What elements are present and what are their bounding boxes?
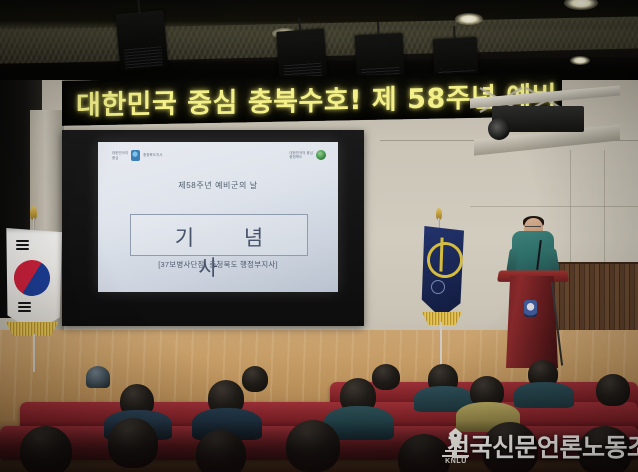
unit-emblem-icon xyxy=(424,239,466,281)
unit-sub-emblem-icon xyxy=(431,280,445,294)
ceiling-downlight-icon xyxy=(570,56,590,65)
ceiling-projector xyxy=(470,86,620,150)
slide-logo-left: 대한민국의 중심 충청북도지사 xyxy=(112,150,162,161)
flag-fringe xyxy=(422,312,462,325)
ceiling xyxy=(0,0,638,76)
trigram-bar xyxy=(16,244,29,246)
presentation-slide: 대한민국의 중심 충청북도지사 대한민국의 중심 충청북도 제58주년 예비군의… xyxy=(98,142,338,292)
trigram-bar xyxy=(18,310,31,312)
audience-head xyxy=(372,364,400,390)
audience-head xyxy=(86,366,110,388)
stage-light-fixture xyxy=(116,10,169,72)
wall-seam xyxy=(470,206,638,207)
projection-screen: 대한민국의 중심 충청북도지사 대한민국의 중심 충청북도 제58주년 예비군의… xyxy=(62,130,364,326)
slide-headline: 기 념 사 xyxy=(131,222,307,282)
speaker-glasses-icon xyxy=(525,226,541,230)
stage-light-lens xyxy=(123,45,163,68)
projector-body xyxy=(492,106,584,132)
trigram-bar xyxy=(18,306,31,308)
watermark-text: 전국신문언론노동조합 xyxy=(447,428,638,464)
slide-logo-right-text: 대한민국의 중심 충청북도 xyxy=(289,151,313,160)
slide-logo-left-text: 대한민국의 중심 xyxy=(112,151,128,160)
watermark-abbreviation: KNLU xyxy=(440,458,472,465)
podium-emblem-icon xyxy=(524,300,537,317)
projector-lens-icon xyxy=(488,118,510,140)
ceiling-downlight-icon xyxy=(455,13,483,25)
slide-subtitle: [37보병사단장, 충청북도 행정부지사] xyxy=(98,259,338,270)
blue-emblem-icon xyxy=(131,150,140,161)
green-circle-emblem-icon xyxy=(316,150,326,160)
event-photo: 대한민국 중심 충북수호! 제 58주년 예비 대한민국의 중심 충청북도지사 xyxy=(0,0,638,472)
slide-logo-left-name: 충청북도지사 xyxy=(143,153,162,157)
audience-shoulders xyxy=(514,382,574,408)
trigram-bar xyxy=(18,302,31,304)
trigram-bar xyxy=(16,240,29,242)
wall-seam xyxy=(604,150,605,270)
audience-head xyxy=(596,374,630,406)
watermark: KNLU 전국신문언론노동조합 xyxy=(440,424,636,468)
flag-fringe xyxy=(6,322,58,336)
pen-nib-bar xyxy=(445,450,466,452)
podium xyxy=(506,276,558,368)
pen-nib-bar xyxy=(442,455,469,457)
audience-head xyxy=(242,366,268,392)
slide-headline-box: 기 념 사 xyxy=(130,214,308,256)
korean-flag xyxy=(4,228,62,332)
slide-logo-right: 대한민국의 중심 충청북도 xyxy=(289,150,326,160)
slide-title: 제58주년 예비군의 날 xyxy=(98,180,338,191)
trigram-bar xyxy=(16,248,29,250)
taeguk-symbol-icon xyxy=(8,254,57,303)
